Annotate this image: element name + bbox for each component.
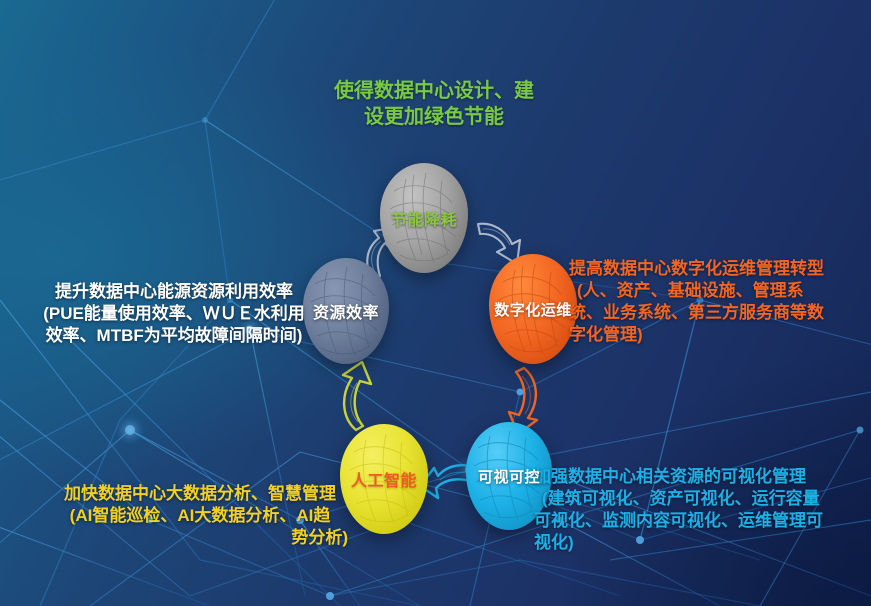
callout-line: 势分析) (52, 527, 348, 549)
arrow-ai-to-resource (322, 360, 382, 434)
callout-line: 效率、MTBF为平均故障间隔时间) (24, 325, 324, 347)
callout-line: (建筑可视化、资产可视化、运行容量 (534, 488, 864, 510)
callout-line: 提高数据中心数字化运维管理转型 (569, 258, 869, 280)
callout-line: (AI智能巡检、AI大数据分析、AI趋 (52, 505, 348, 527)
callout-line: 加快数据中心大数据分析、智慧管理 (52, 483, 348, 505)
callout-line: 字化管理) (569, 324, 869, 346)
callout-artificial-intelligence: 加快数据中心大数据分析、智慧管理 (AI智能巡检、AI大数据分析、AI趋 势分析… (52, 483, 348, 549)
callout-resource-efficiency: 提升数据中心能源资源利用效率 (PUE能量使用效率、ＷＵＥ水利用 效率、MTBF… (24, 281, 324, 347)
node-label: 节能降耗 (391, 206, 457, 230)
node-label: 人工智能 (351, 467, 417, 491)
callout-line: 统、业务系统、第三方服务商等数 (569, 302, 869, 324)
node-label: 资源效率 (313, 299, 379, 323)
callout-line: (人、资产、基础设施、管理系 (569, 280, 869, 302)
callout-line: 提升数据中心能源资源利用效率 (24, 281, 324, 303)
top-caption: 使得数据中心设计、建 设更加绿色节能 (300, 78, 568, 130)
infographic-canvas: 使得数据中心设计、建 设更加绿色节能 节能降耗 (0, 0, 871, 606)
node-label: 可视可控 (478, 466, 540, 487)
callout-digital-ops: 提高数据中心数字化运维管理转型 (人、资产、基础设施、管理系 统、业务系统、第三… (569, 258, 869, 346)
callout-line: 视化) (534, 532, 864, 554)
callout-line: 可视化、监测内容可视化、运维管理可 (534, 510, 864, 532)
top-caption-line-1: 使得数据中心设计、建 (300, 78, 568, 104)
node-label: 数字化运维 (494, 299, 572, 320)
callout-line: 加强数据中心相关资源的可视化管理 (534, 466, 864, 488)
top-caption-line-2: 设更加绿色节能 (300, 104, 568, 130)
callout-visible-controllable: 加强数据中心相关资源的可视化管理 (建筑可视化、资产可视化、运行容量 可视化、监… (534, 466, 864, 554)
callout-line: (PUE能量使用效率、ＷＵＥ水利用 (24, 303, 324, 325)
